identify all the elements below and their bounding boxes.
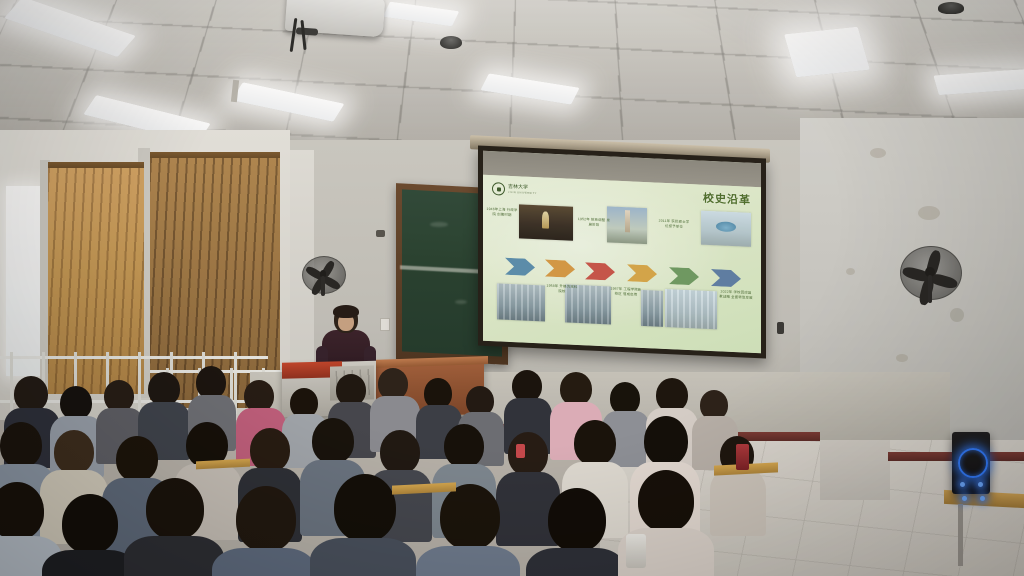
wall-outlet[interactable]: [380, 318, 390, 331]
student-desk: [196, 459, 250, 470]
logo-subtext: JILIN UNIVERSITY: [508, 191, 537, 195]
person-head: [116, 436, 158, 482]
small-cup[interactable]: [516, 444, 525, 458]
timeline-chevron: [711, 269, 741, 287]
wall-fan-right[interactable]: [900, 246, 960, 298]
person-head: [334, 474, 396, 542]
timeline-chevron: [669, 267, 699, 285]
speaker-led-dot: [978, 482, 983, 487]
speaker-led-dot: [962, 496, 967, 501]
person-head: [0, 422, 42, 468]
photo-detail: [716, 221, 736, 232]
person-head: [574, 420, 616, 466]
wall-stain: [846, 268, 855, 275]
wall-speaker-icon: [777, 322, 784, 334]
photo-detail: [497, 283, 545, 321]
red-thermos[interactable]: [736, 444, 749, 470]
presentation-slide: 吉林大学 JILIN UNIVERSITY 校史沿革 1946年上海 行政学院 …: [483, 175, 761, 354]
wall-bracket: [376, 230, 385, 237]
timeline-chevron: [585, 262, 615, 280]
person-torso: [416, 546, 520, 576]
wall-stain: [918, 206, 940, 220]
person-torso: [710, 470, 766, 536]
person-head: [656, 378, 688, 412]
person-head: [548, 488, 606, 552]
person-head: [250, 428, 290, 472]
person-head: [236, 486, 296, 552]
timeline-photo: [641, 290, 663, 327]
timeline-photo: [519, 204, 573, 240]
person-head: [14, 376, 48, 412]
speaker-led-dot: [980, 496, 985, 501]
person-head: [444, 424, 484, 468]
timeline-caption: 2022年 学校因应国家战略 全面转型发展: [719, 289, 753, 300]
photo-detail: [542, 211, 550, 228]
fan-mount-arm: [928, 275, 933, 304]
person-head: [508, 432, 548, 476]
seated-audience: [0, 366, 1024, 576]
projector-lens-icon: [296, 27, 318, 36]
photo-detail: [665, 289, 717, 329]
person-head: [312, 418, 354, 464]
wall-fan-left[interactable]: [302, 256, 344, 292]
lecture-hall-photo: 吉林大学 JILIN UNIVERSITY 校史沿革 1946年上海 行政学院 …: [0, 0, 1024, 576]
dome-security-camera-icon: [938, 2, 964, 14]
person-head: [54, 430, 94, 474]
person-torso: [124, 536, 224, 576]
rail-bar: [0, 356, 268, 359]
timeline-caption: 1987年 工程学院新校区 落成启用: [609, 286, 643, 297]
person-torso: [526, 548, 626, 576]
person-head: [560, 372, 592, 406]
university-crest-icon: [492, 182, 505, 196]
person-head: [60, 386, 92, 420]
speaker-led-dot: [960, 482, 965, 487]
wall-stain: [896, 354, 908, 362]
wall-stain: [950, 308, 964, 322]
photo-detail: [641, 290, 663, 327]
person-head: [146, 478, 204, 540]
timeline-caption: 2011年 获批硕士学位授予单位: [657, 219, 691, 230]
person-head: [644, 416, 688, 466]
timeline-chevron: [545, 260, 575, 278]
dome-security-camera-icon: [440, 36, 462, 49]
slide-title: 校史沿革: [703, 190, 751, 208]
chalk-smudge: [430, 222, 448, 227]
timeline-chevron: [505, 258, 535, 276]
projection-screen[interactable]: 吉林大学 JILIN UNIVERSITY 校史沿革 1946年上海 行政学院 …: [483, 151, 761, 354]
timeline-chevron: [627, 264, 657, 282]
white-tumbler[interactable]: [626, 534, 646, 568]
timeline-photo: [607, 206, 647, 244]
speaker-table-leg: [958, 504, 963, 566]
ceiling-light-panel: [784, 27, 870, 78]
photo-detail: [625, 210, 630, 233]
person-head: [440, 484, 500, 550]
person-torso: [212, 548, 316, 576]
speaker-led-ring: [958, 448, 988, 478]
chalk-smudge: [455, 300, 467, 304]
timeline-caption: 1958年 升格为本科院校: [545, 284, 579, 295]
timeline-photo: [665, 289, 717, 329]
timeline-caption: 1952年 院系调整 发展阶段: [577, 217, 611, 228]
person-torso: [310, 538, 416, 576]
person-head: [638, 470, 694, 532]
wall-stain: [870, 148, 886, 158]
fan-mount-arm: [321, 276, 324, 296]
window-daylight: [6, 186, 40, 376]
timeline-caption: 1946年上海 行政学院 创建时期: [485, 207, 519, 218]
person-head: [148, 372, 180, 406]
person-head: [62, 494, 118, 554]
presenter-hair: [333, 305, 359, 318]
timeline-photo: [701, 211, 751, 247]
timeline-photo: [497, 283, 545, 321]
person-head: [380, 430, 420, 474]
slide-logo: 吉林大学 JILIN UNIVERSITY: [492, 182, 537, 197]
